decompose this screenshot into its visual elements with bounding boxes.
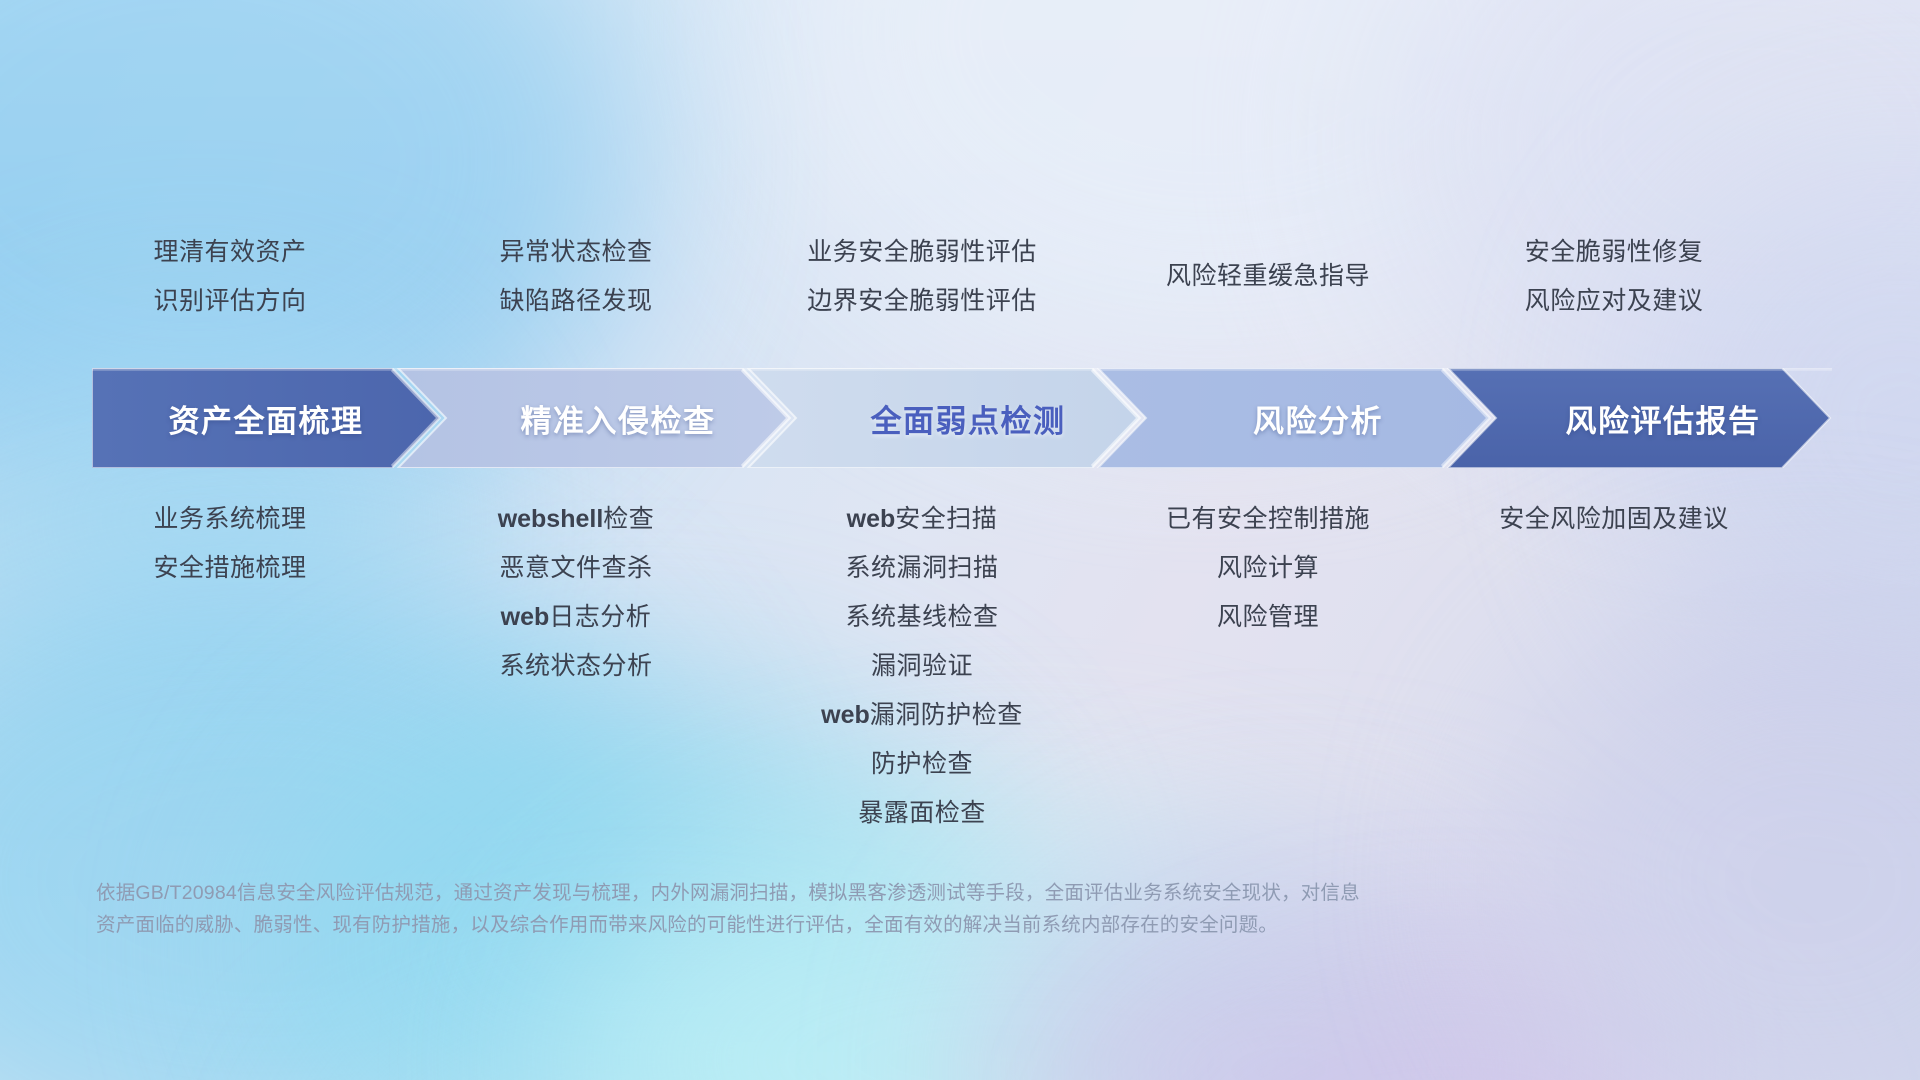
below-label: 系统状态分析 bbox=[406, 642, 746, 691]
above-label: 识别评估方向 bbox=[60, 277, 400, 326]
below-label-en: web bbox=[847, 505, 896, 533]
above-labels-stage-5: 安全脆弱性修复 风险应对及建议 bbox=[1444, 228, 1784, 326]
above-label: 业务安全脆弱性评估 bbox=[752, 228, 1092, 277]
below-label-en: webshell bbox=[498, 505, 604, 533]
footer-description: 依据GB/T20984信息安全风险评估规范，通过资产发现与梳理，内外网漏洞扫描，… bbox=[96, 877, 1606, 941]
footer-line-2: 资产面临的威胁、脆弱性、现有防护措施，以及综合作用而带来风险的可能性进行评估，全… bbox=[96, 909, 1606, 941]
below-label-zh: 风险管理 bbox=[1217, 603, 1319, 631]
below-labels-stage-2: webshell检查 恶意文件查杀 web日志分析 系统状态分析 bbox=[406, 495, 746, 691]
below-label: 业务系统梳理 bbox=[60, 495, 400, 544]
above-label: 缺陷路径发现 bbox=[406, 277, 746, 326]
below-label-zh: 风险计算 bbox=[1217, 554, 1319, 582]
below-label-zh: 已有安全控制措施 bbox=[1166, 505, 1370, 533]
below-label-zh: 防护检查 bbox=[871, 750, 973, 778]
below-label-zh: 安全措施梳理 bbox=[153, 554, 306, 582]
below-label-zh: 安全扫描 bbox=[895, 505, 997, 533]
footer-line-1: 依据GB/T20984信息安全风险评估规范，通过资产发现与梳理，内外网漏洞扫描，… bbox=[96, 877, 1606, 909]
below-label-zh: 恶意文件查杀 bbox=[499, 554, 652, 582]
stage-title-3[interactable]: 全面弱点检测 bbox=[796, 368, 1140, 468]
below-label: 已有安全控制措施 bbox=[1098, 495, 1438, 544]
below-label: 防护检查 bbox=[752, 740, 1092, 789]
stage-title-2[interactable]: 精准入侵检查 bbox=[446, 368, 790, 468]
below-label: 暴露面检查 bbox=[752, 789, 1092, 838]
below-labels-stage-1: 业务系统梳理 安全措施梳理 bbox=[60, 495, 400, 593]
below-labels-stage-4: 已有安全控制措施 风险计算 风险管理 bbox=[1098, 495, 1438, 642]
below-label-zh: 系统状态分析 bbox=[499, 652, 652, 680]
below-label: web日志分析 bbox=[406, 593, 746, 642]
below-label: 风险管理 bbox=[1098, 593, 1438, 642]
below-label: web安全扫描 bbox=[752, 495, 1092, 544]
stage-title-1[interactable]: 资产全面梳理 bbox=[92, 368, 440, 468]
below-label-zh: 漏洞防护检查 bbox=[870, 701, 1023, 729]
above-label: 理清有效资产 bbox=[60, 228, 400, 277]
diagram-content: 理清有效资产 识别评估方向 异常状态检查 缺陷路径发现 业务安全脆弱性评估 边界… bbox=[0, 0, 1920, 1080]
above-label: 异常状态检查 bbox=[406, 228, 746, 277]
below-labels-stage-3: web安全扫描 系统漏洞扫描 系统基线检查 漏洞验证 web漏洞防护检查 防护检… bbox=[752, 495, 1092, 838]
below-label-zh: 检查 bbox=[603, 505, 654, 533]
below-label-zh: 暴露面检查 bbox=[858, 799, 986, 827]
process-arrow-banner: 资产全面梳理 精准入侵检查 全面弱点检测 风险分析 风险评估报告 bbox=[92, 368, 1832, 468]
above-label: 边界安全脆弱性评估 bbox=[752, 277, 1092, 326]
below-label-zh: 系统漏洞扫描 bbox=[845, 554, 998, 582]
below-label: 恶意文件查杀 bbox=[406, 544, 746, 593]
above-labels-stage-3: 业务安全脆弱性评估 边界安全脆弱性评估 bbox=[752, 228, 1092, 326]
stage-title-5[interactable]: 风险评估报告 bbox=[1496, 368, 1830, 468]
below-label-zh: 漏洞验证 bbox=[871, 652, 973, 680]
below-label: 系统基线检查 bbox=[752, 593, 1092, 642]
above-labels-row: 理清有效资产 识别评估方向 异常状态检查 缺陷路径发现 业务安全脆弱性评估 边界… bbox=[0, 228, 1920, 338]
below-label-en: web bbox=[501, 603, 550, 631]
above-label: 安全脆弱性修复 bbox=[1444, 228, 1784, 277]
below-label-en: web bbox=[821, 701, 870, 729]
below-label: 安全风险加固及建议 bbox=[1444, 495, 1784, 544]
below-label-zh: 系统基线检查 bbox=[845, 603, 998, 631]
above-labels-stage-1: 理清有效资产 识别评估方向 bbox=[60, 228, 400, 326]
below-label: webshell检查 bbox=[406, 495, 746, 544]
below-label: 漏洞验证 bbox=[752, 642, 1092, 691]
below-label-zh: 业务系统梳理 bbox=[153, 505, 306, 533]
above-label: 风险应对及建议 bbox=[1444, 277, 1784, 326]
below-label: 系统漏洞扫描 bbox=[752, 544, 1092, 593]
above-labels-stage-4: 风险轻重缓急指导 bbox=[1098, 252, 1438, 301]
below-label-zh: 日志分析 bbox=[549, 603, 651, 631]
below-label: 安全措施梳理 bbox=[60, 544, 400, 593]
above-labels-stage-2: 异常状态检查 缺陷路径发现 bbox=[406, 228, 746, 326]
above-label: 风险轻重缓急指导 bbox=[1098, 252, 1438, 301]
below-labels-stage-5: 安全风险加固及建议 bbox=[1444, 495, 1784, 544]
stage-title-4[interactable]: 风险分析 bbox=[1146, 368, 1490, 468]
below-label: 风险计算 bbox=[1098, 544, 1438, 593]
below-label-zh: 安全风险加固及建议 bbox=[1499, 505, 1729, 533]
below-label: web漏洞防护检查 bbox=[752, 691, 1092, 740]
